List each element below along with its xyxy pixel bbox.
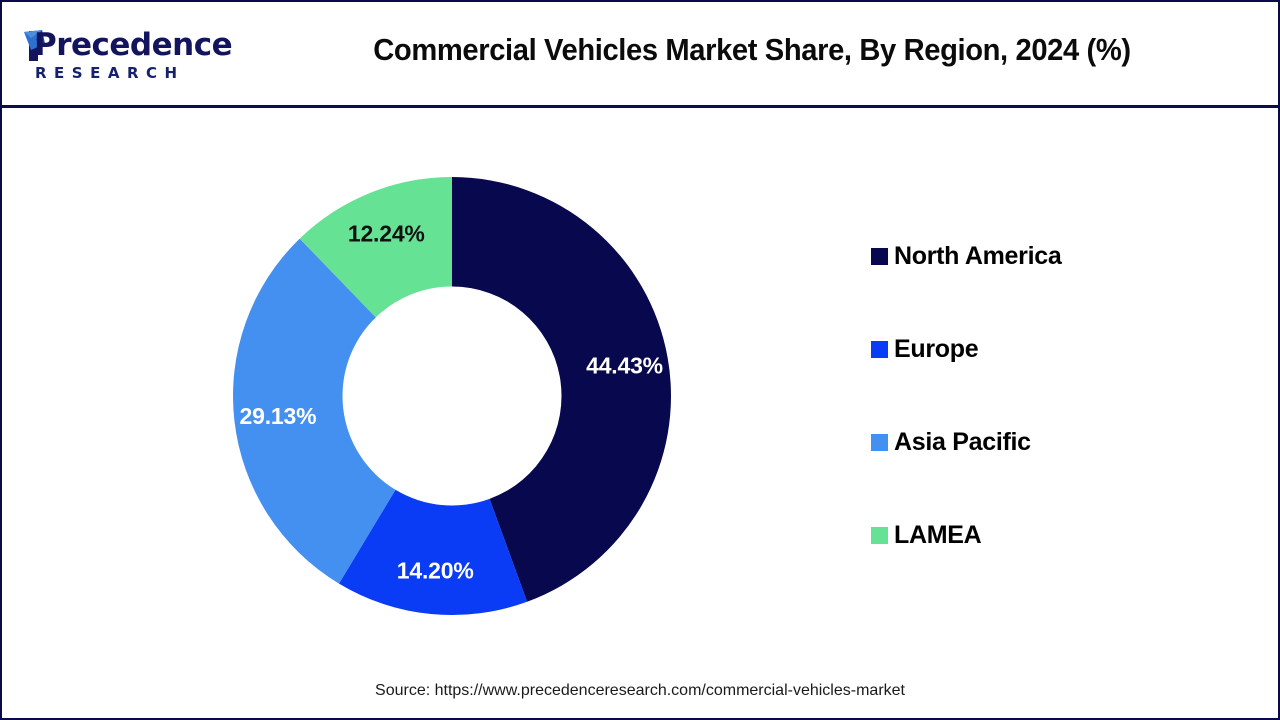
donut-slice-label: 14.20%	[397, 557, 474, 583]
donut-chart-svg: 44.43%14.20%29.13%12.24%	[231, 175, 673, 617]
donut-chart: 44.43%14.20%29.13%12.24%	[231, 175, 673, 617]
header-bar: Precedence RESEARCH Commercial Vehicles …	[2, 2, 1278, 108]
legend-swatch-north-america	[871, 248, 888, 265]
legend-item-lamea[interactable]: LAMEA	[871, 521, 1211, 614]
legend-swatch-europe	[871, 341, 888, 358]
legend: North America Europe Asia Pacific LAMEA	[871, 242, 1211, 614]
chart-page: Precedence RESEARCH Commercial Vehicles …	[0, 0, 1280, 720]
legend-item-north-america[interactable]: North America	[871, 242, 1211, 335]
legend-label-asia-pacific: Asia Pacific	[894, 428, 1031, 456]
donut-slice-label: 12.24%	[348, 221, 425, 247]
chart-area: 44.43%14.20%29.13%12.24% North America E…	[2, 110, 1278, 718]
legend-item-europe[interactable]: Europe	[871, 335, 1211, 428]
source-caption: Source: https://www.precedenceresearch.c…	[2, 682, 1278, 700]
donut-slice-label: 29.13%	[240, 403, 317, 429]
legend-item-asia-pacific[interactable]: Asia Pacific	[871, 428, 1211, 521]
legend-label-europe: Europe	[894, 335, 978, 363]
legend-swatch-lamea	[871, 527, 888, 544]
donut-slice-label: 44.43%	[586, 352, 663, 378]
legend-label-north-america: North America	[894, 242, 1061, 270]
precedence-research-logo: Precedence RESEARCH	[18, 26, 228, 88]
logo-wordmark: Precedence	[34, 26, 232, 64]
page-title: Commercial Vehicles Market Share, By Reg…	[282, 32, 1222, 68]
legend-label-lamea: LAMEA	[894, 521, 981, 549]
logo-subtitle: RESEARCH	[35, 63, 185, 83]
legend-swatch-asia-pacific	[871, 434, 888, 451]
donut-slice-group	[233, 177, 671, 615]
